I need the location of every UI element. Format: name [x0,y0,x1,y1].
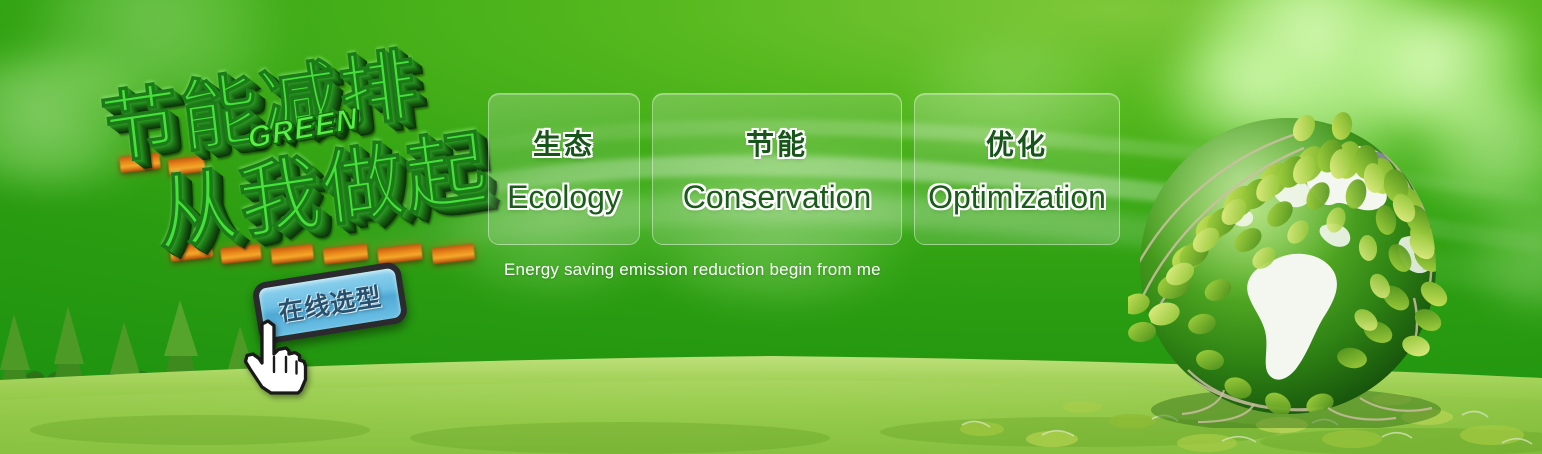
cloud-shape [1460,200,1542,310]
eco-banner: 节能减排 GREEN 从我做起 在线选型 生态 Ecology 节能 Conse… [0,0,1542,454]
pointing-hand-cursor-icon [238,318,310,396]
feature-card-cn-label: 生态 [533,123,595,163]
banner-tagline: Energy saving emission reduction begin f… [504,260,881,280]
feature-card-cn-label: 节能 [746,123,808,163]
title-artwork: 节能减排 GREEN 从我做起 [86,21,489,288]
feature-card-conservation[interactable]: 节能 Conservation [652,93,902,245]
leafy-globe-icon [1128,108,1448,428]
feature-card-cn-label: 优化 [986,123,1048,163]
cloud-shape [1180,0,1480,120]
feature-card-en-label: Conservation [683,179,872,216]
feature-card-ecology[interactable]: 生态 Ecology [488,93,640,245]
feature-card-optimization[interactable]: 优化 Optimization [914,93,1120,245]
feature-card-list: 生态 Ecology 节能 Conservation 优化 Optimizati… [488,93,1120,245]
feature-card-en-label: Ecology [507,179,621,216]
feature-card-en-label: Optimization [928,179,1106,216]
